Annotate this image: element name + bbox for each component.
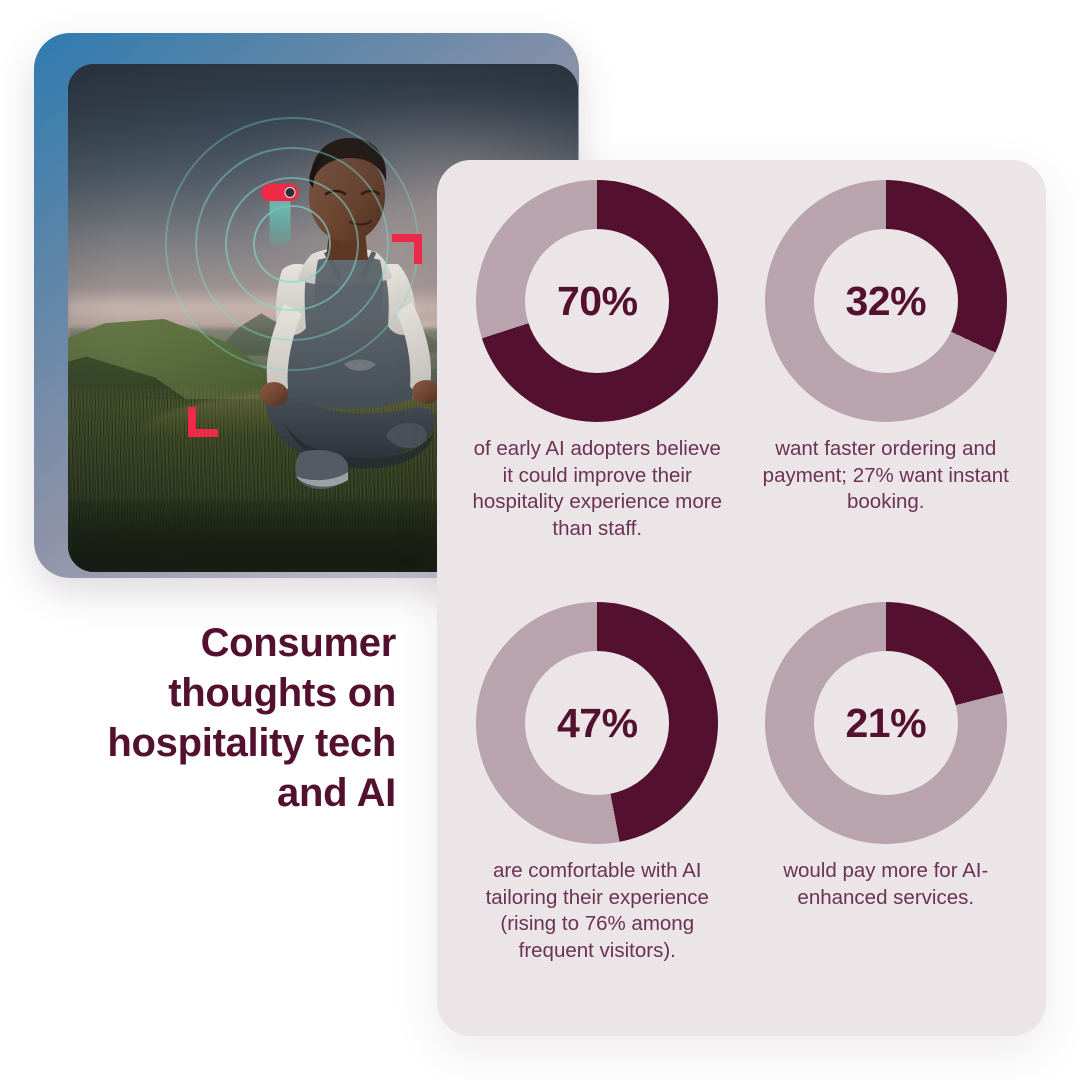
stat-item: 21% would pay more for AI-enhanced servi… — [742, 596, 1031, 1018]
donut-chart: 21% — [765, 602, 1007, 844]
donut-value-label: 47% — [557, 703, 638, 744]
donut-value-label: 70% — [557, 281, 638, 322]
corner-bracket-bottom-left-icon — [188, 407, 218, 437]
page-title: Consumer thoughts on hospitality tech an… — [40, 618, 396, 818]
toggle-knob — [284, 187, 295, 198]
donut-value-label: 21% — [845, 703, 926, 744]
page-title-line-3: hospitality tech — [40, 718, 396, 768]
ring-inner — [253, 205, 331, 283]
page-title-line-1: Consumer — [40, 618, 396, 668]
device-toggle-icon — [261, 184, 298, 201]
device-bar-icon — [269, 194, 290, 246]
donut-hole: 70% — [525, 229, 669, 373]
donut-chart: 32% — [765, 180, 1007, 422]
infographic-root: Consumer thoughts on hospitality tech an… — [0, 0, 1080, 1080]
donut-hole: 21% — [814, 651, 958, 795]
stat-item: 47% are comfortable with AI tailoring th… — [453, 596, 742, 1018]
donut-chart: 47% — [476, 602, 718, 844]
donut-hole: 47% — [525, 651, 669, 795]
stats-grid: 70% of early AI adopters believe it coul… — [437, 160, 1046, 1036]
stat-caption: would pay more for AI-enhanced services. — [760, 858, 1012, 911]
stat-item: 70% of early AI adopters believe it coul… — [453, 174, 742, 596]
stat-caption: of early AI adopters believe it could im… — [471, 436, 723, 543]
page-title-line-4: and AI — [40, 768, 396, 818]
donut-hole: 32% — [814, 229, 958, 373]
corner-bracket-top-right-icon — [392, 234, 422, 264]
stats-card: 70% of early AI adopters believe it coul… — [437, 160, 1046, 1036]
stat-caption: want faster ordering and payment; 27% wa… — [760, 436, 1012, 516]
stat-item: 32% want faster ordering and payment; 27… — [742, 174, 1031, 596]
donut-chart: 70% — [476, 180, 718, 422]
page-title-line-2: thoughts on — [40, 668, 396, 718]
donut-value-label: 32% — [845, 281, 926, 322]
stat-caption: are comfortable with AI tailoring their … — [471, 858, 723, 965]
